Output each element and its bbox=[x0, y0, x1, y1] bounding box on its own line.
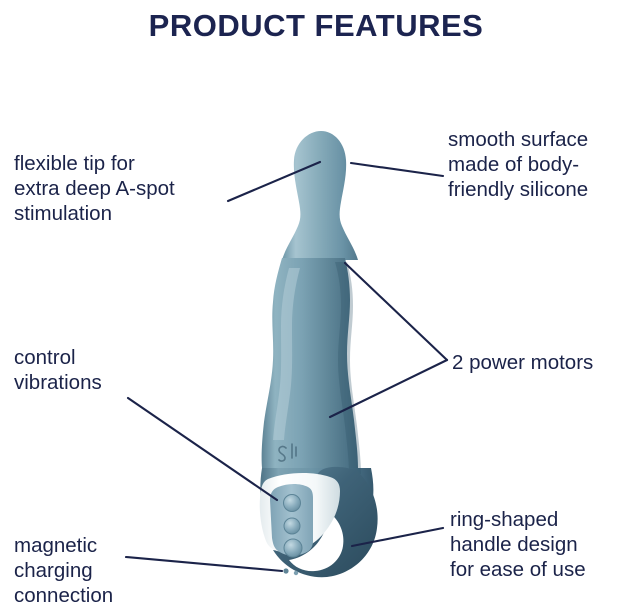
product-body bbox=[260, 131, 378, 577]
callout-control-vibrations: control vibrations bbox=[14, 345, 194, 395]
callout-power-motors: 2 power motors bbox=[452, 350, 632, 375]
callout-magnetic-charging: magnetic charging connection bbox=[14, 533, 214, 608]
leader-smooth-surface bbox=[351, 163, 443, 176]
product-tip bbox=[282, 131, 358, 260]
power-button[interactable] bbox=[284, 518, 300, 534]
decrease-button[interactable] bbox=[284, 539, 302, 557]
product-features-infographic: PRODUCT FEATURES bbox=[0, 0, 632, 600]
callout-smooth-surface: smooth surface made of body- friendly si… bbox=[448, 127, 632, 202]
increase-button[interactable] bbox=[284, 495, 301, 512]
callout-flexible-tip: flexible tip for extra deep A-spot stimu… bbox=[14, 151, 246, 226]
callout-ring-handle: ring-shaped handle design for ease of us… bbox=[450, 507, 632, 582]
leader-control-vibrations bbox=[128, 398, 277, 500]
control-buttons[interactable] bbox=[284, 495, 303, 558]
leader-power-motors-upper bbox=[345, 263, 447, 360]
